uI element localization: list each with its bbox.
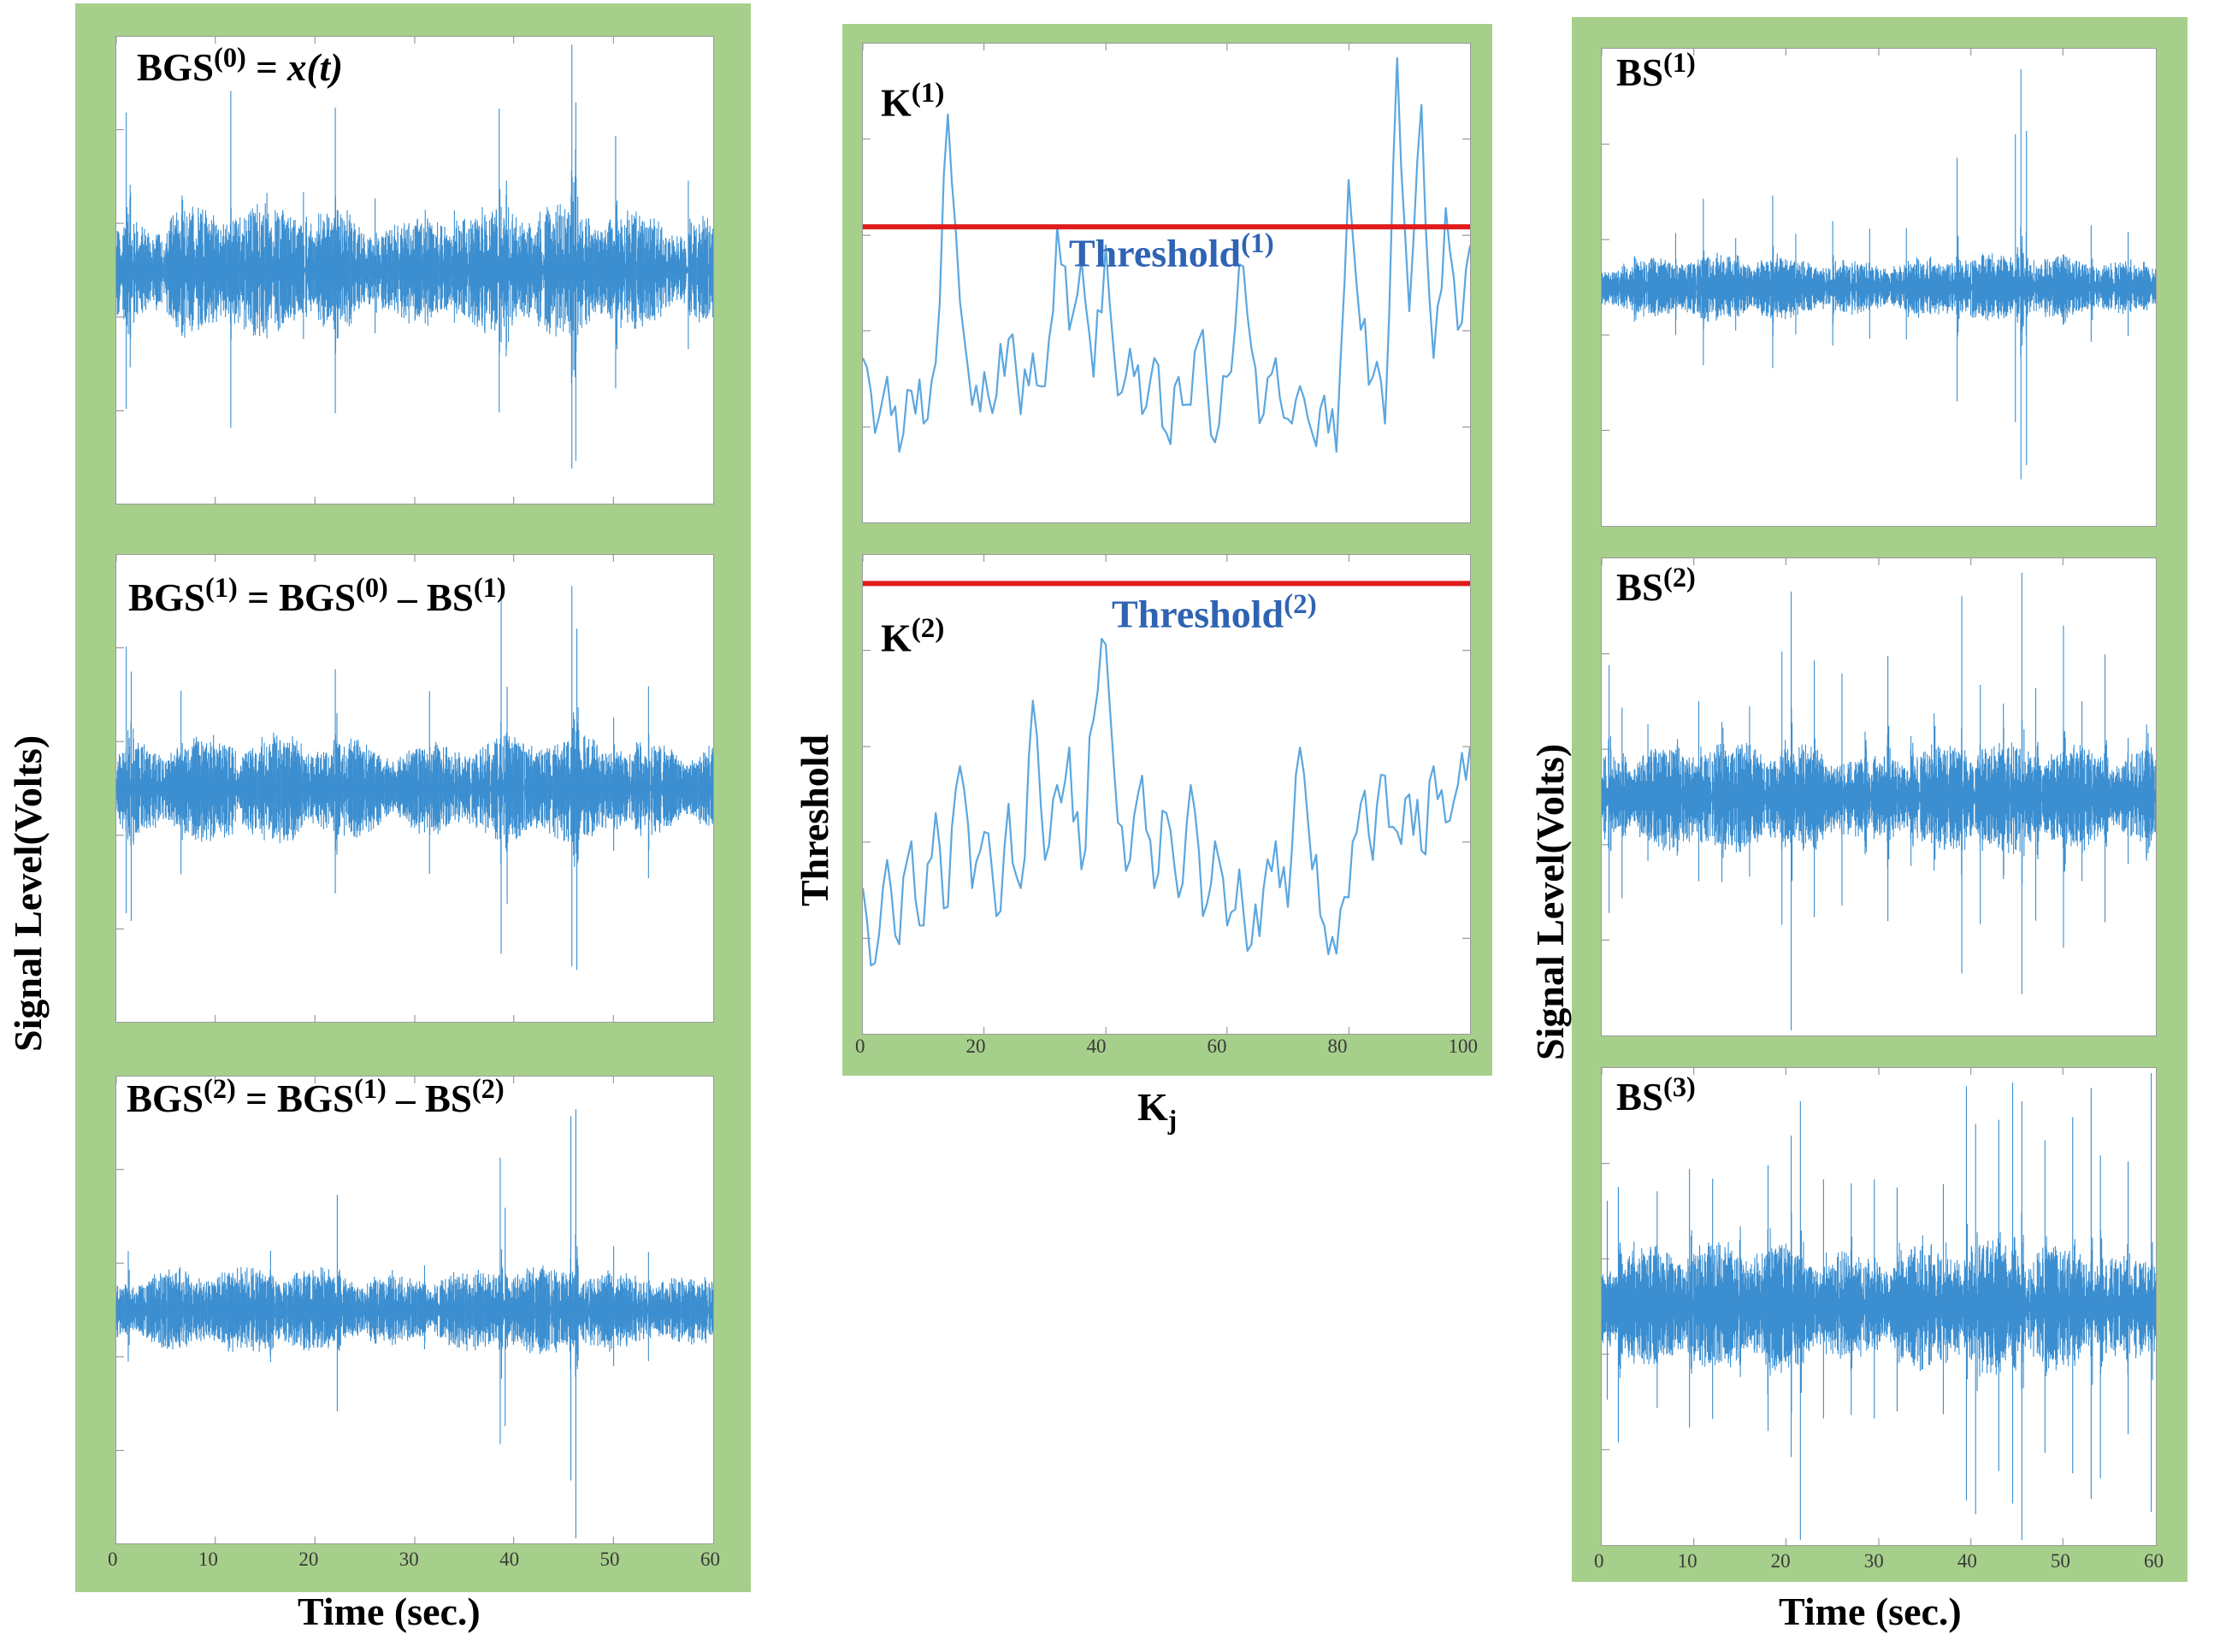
bgs2-name: BGS	[127, 1077, 204, 1120]
threshold-label-k2: Threshold(2)	[1112, 590, 1317, 634]
bs1-sup: (1)	[1663, 48, 1696, 79]
k1-threshold-sup: (1)	[1241, 227, 1274, 259]
right-x-tick-labels: 0 10 20 30 40 50 60	[1594, 1551, 2164, 1571]
bs2-sup: (2)	[1663, 563, 1696, 593]
panel-title-bgs1: BGS(1) = BGS(0) – BS(1)	[128, 575, 506, 617]
left-y-axis-title: Signal Level(Volts)	[9, 735, 48, 1052]
panel-bs2	[1601, 558, 2157, 1036]
k2-threshold-sup: (2)	[1284, 588, 1317, 620]
middle-x-tick-labels: 0 20 40 60 80 100	[855, 1036, 1478, 1056]
left-xtick-5: 50	[600, 1549, 620, 1569]
panel-title-k2: K(2)	[881, 614, 944, 658]
panel-title-k1: K(1)	[881, 79, 944, 122]
plot-k1	[863, 44, 1470, 522]
panel-bgs0	[115, 36, 714, 504]
bgs0-name: BGS	[137, 46, 214, 89]
panel-title-bs2: BS(2)	[1616, 564, 1696, 607]
signal-trace-bgs0	[116, 44, 713, 469]
middle-x-axis-title: Kj	[1137, 1088, 1177, 1133]
right-xtick-6: 60	[2144, 1551, 2164, 1571]
plot-bgs2	[116, 1077, 713, 1543]
left-xtick-3: 30	[399, 1549, 419, 1569]
bs2-name: BS	[1616, 566, 1663, 609]
bgs1-sup: (1)	[205, 573, 238, 604]
bs3-sup: (3)	[1663, 1072, 1696, 1103]
bgs2-term1-sup: (1)	[354, 1074, 387, 1105]
panel-bgs1	[115, 554, 714, 1023]
panel-k1	[862, 43, 1471, 523]
left-x-axis-title: Time (sec.)	[298, 1592, 481, 1631]
bgs2-eq: =	[245, 1077, 268, 1120]
panel-title-bgs0: BGS(0) = x(t)	[137, 44, 343, 87]
left-xtick-4: 40	[499, 1549, 519, 1569]
middle-xtick-0: 0	[855, 1036, 865, 1056]
bgs1-eq: =	[247, 576, 269, 619]
left-xtick-6: 60	[700, 1549, 720, 1569]
left-xtick-1: 10	[198, 1549, 218, 1569]
plot-bs2	[1602, 558, 2156, 1035]
panel-bs1	[1601, 48, 2157, 527]
bgs1-term2-sup: (1)	[474, 573, 506, 604]
bgs2-term1: BGS	[277, 1077, 354, 1120]
bgs2-term2-sup: (2)	[472, 1074, 505, 1105]
k1-name: K	[881, 80, 912, 124]
bgs0-sup: (0)	[214, 43, 246, 74]
left-x-tick-labels: 0 10 20 30 40 50 60	[108, 1549, 720, 1569]
panel-title-bs3: BS(3)	[1616, 1074, 1696, 1117]
signal-trace-bgs1	[116, 586, 713, 970]
middle-xtick-5: 100	[1449, 1036, 1479, 1056]
k1-sup: (1)	[912, 77, 945, 109]
right-x-axis-title: Time (sec.)	[1779, 1592, 1962, 1631]
bgs1-term1: BGS	[279, 576, 356, 619]
right-xtick-2: 20	[1771, 1551, 1791, 1571]
bgs1-name: BGS	[128, 576, 205, 619]
middle-xtick-4: 80	[1328, 1036, 1348, 1056]
bgs1-term2: BS	[427, 576, 474, 619]
middle-y-axis-title: Threshold	[795, 735, 835, 906]
bs3-name: BS	[1616, 1076, 1663, 1118]
bgs1-term1-sup: (0)	[356, 573, 388, 604]
plot-bs1	[1602, 49, 2156, 526]
right-y-axis-title: Signal Level(Volts)	[1531, 744, 1570, 1060]
left-xtick-2: 20	[298, 1549, 318, 1569]
kj-sub: j	[1168, 1105, 1177, 1135]
bgs0-eq: =	[256, 46, 278, 89]
k2-sup: (2)	[912, 612, 945, 644]
plot-bgs1	[116, 555, 713, 1022]
middle-xtick-3: 60	[1207, 1036, 1227, 1056]
bgs2-minus: –	[396, 1077, 416, 1120]
plot-bs3	[1602, 1068, 2156, 1545]
signal-trace-bgs2	[116, 1109, 713, 1538]
panel-bs3	[1601, 1067, 2157, 1546]
kj-main: K	[1137, 1085, 1168, 1129]
middle-xtick-2: 40	[1087, 1036, 1107, 1056]
signal-trace-bs3	[1602, 1073, 2156, 1540]
right-xtick-5: 50	[2051, 1551, 2070, 1571]
signal-trace-bs1	[1602, 69, 2156, 480]
right-xtick-4: 40	[1957, 1551, 1977, 1571]
panel-title-bgs2: BGS(2) = BGS(1) – BS(2)	[127, 1076, 505, 1118]
bgs2-sup: (2)	[204, 1074, 236, 1105]
middle-xtick-1: 20	[966, 1036, 986, 1056]
signal-trace-bs2	[1602, 573, 2156, 1030]
k-trace-k2	[863, 639, 1470, 965]
plot-bgs0	[116, 37, 713, 504]
bgs2-term2: BS	[425, 1077, 472, 1120]
panel-bgs2	[115, 1076, 714, 1544]
panel-title-bs1: BS(1)	[1616, 50, 1696, 92]
right-xtick-1: 10	[1678, 1551, 1697, 1571]
threshold-label-k1: Threshold(1)	[1069, 229, 1274, 273]
bgs1-minus: –	[398, 576, 417, 619]
right-xtick-0: 0	[1594, 1551, 1604, 1571]
k2-name: K	[881, 616, 912, 659]
left-xtick-0: 0	[108, 1549, 118, 1569]
right-xtick-3: 30	[1864, 1551, 1884, 1571]
bgs0-rhs: x(t)	[287, 46, 343, 89]
k2-threshold-text: Threshold	[1112, 592, 1284, 635]
k1-threshold-text: Threshold	[1069, 231, 1241, 274]
bs1-name: BS	[1616, 51, 1663, 94]
